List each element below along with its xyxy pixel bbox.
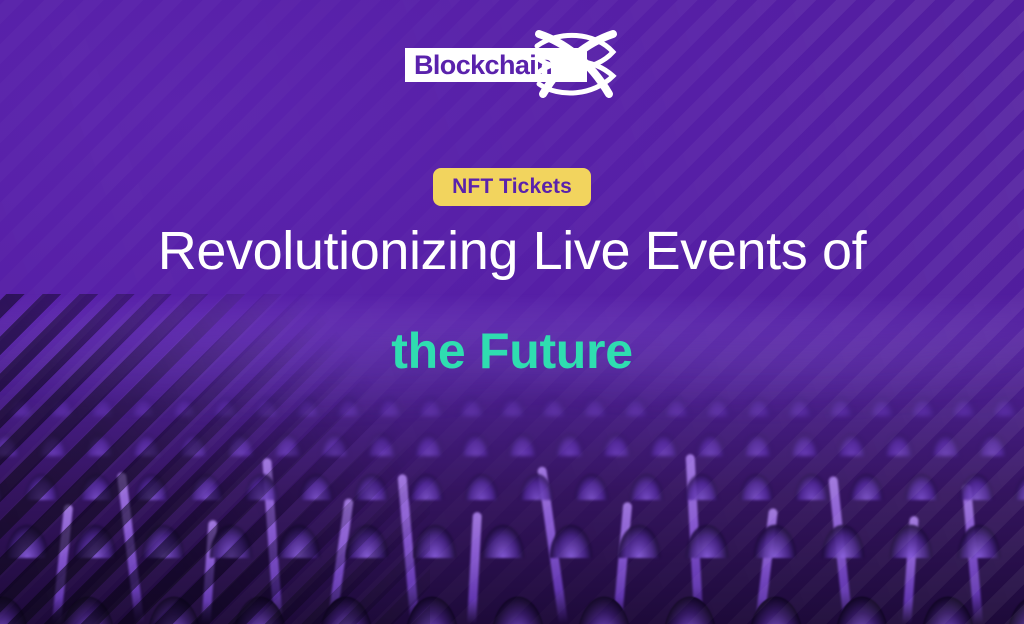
category-badge[interactable]: NFT Tickets xyxy=(433,168,591,206)
headline-line-1: Revolutionizing Live Events of xyxy=(158,223,866,280)
logo-wordmark: Blockchain xyxy=(405,52,552,79)
headline-line-2: the Future xyxy=(391,325,632,378)
hero-banner: Blockchain NFT Tickets Revolutionizing L… xyxy=(0,0,1024,624)
x-swoosh-icon xyxy=(533,26,619,102)
banner-content: Blockchain NFT Tickets Revolutionizing L… xyxy=(0,0,1024,624)
brand-logo[interactable]: Blockchain xyxy=(405,26,619,102)
